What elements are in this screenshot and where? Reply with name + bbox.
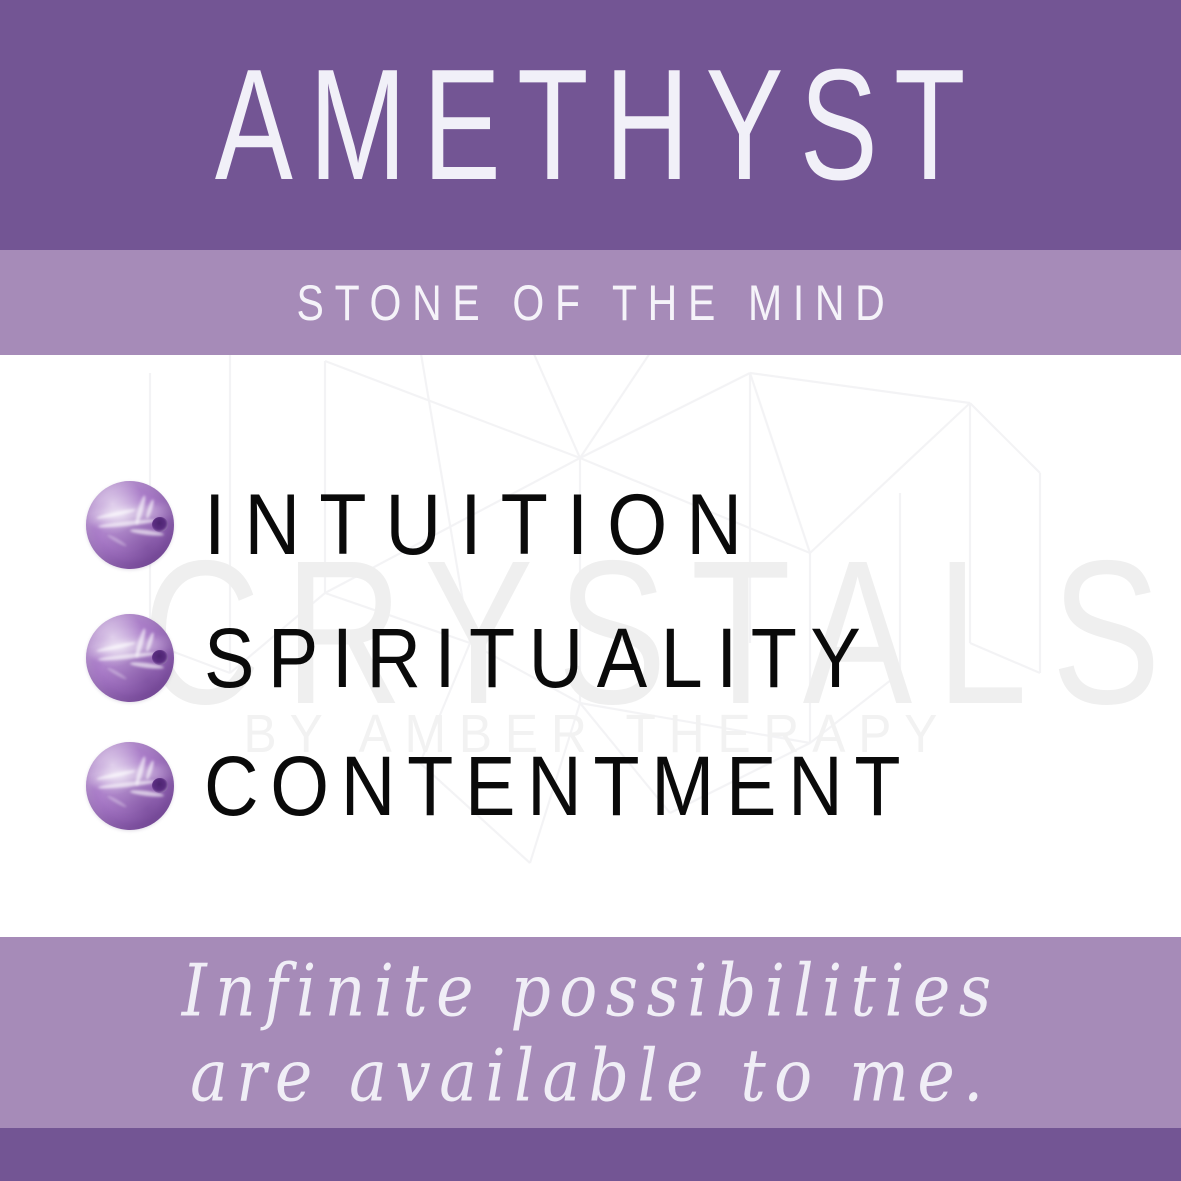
keyword-list: INTUITION SPIRITUALITY <box>0 355 1181 937</box>
subtitle-text: STONE OF THE MIND <box>286 278 896 328</box>
list-item: INTUITION <box>0 465 1181 585</box>
keyword-label: SPIRITUALITY <box>204 616 874 700</box>
page-title: AMETHYST <box>0 0 1181 250</box>
affirmation: Infinite possibilities are available to … <box>0 937 1181 1128</box>
footer-band <box>0 1128 1181 1181</box>
list-item: CONTENTMENT <box>0 726 1181 846</box>
amethyst-bead-icon <box>86 742 174 830</box>
subtitle: STONE OF THE MIND <box>0 250 1181 355</box>
amethyst-bead-icon <box>86 614 174 702</box>
keyword-label: INTUITION <box>204 482 761 568</box>
list-item: SPIRITUALITY <box>0 598 1181 718</box>
affirmation-line-2: are available to me. <box>190 1033 991 1121</box>
affirmation-line-1: Infinite possibilities <box>182 948 1000 1036</box>
keyword-label: CONTENTMENT <box>204 744 912 828</box>
page-title-text: AMETHYST <box>199 46 982 204</box>
amethyst-bead-icon <box>86 481 174 569</box>
amethyst-crystal-card: AMETHYST STONE OF THE MIND <box>0 0 1181 1181</box>
